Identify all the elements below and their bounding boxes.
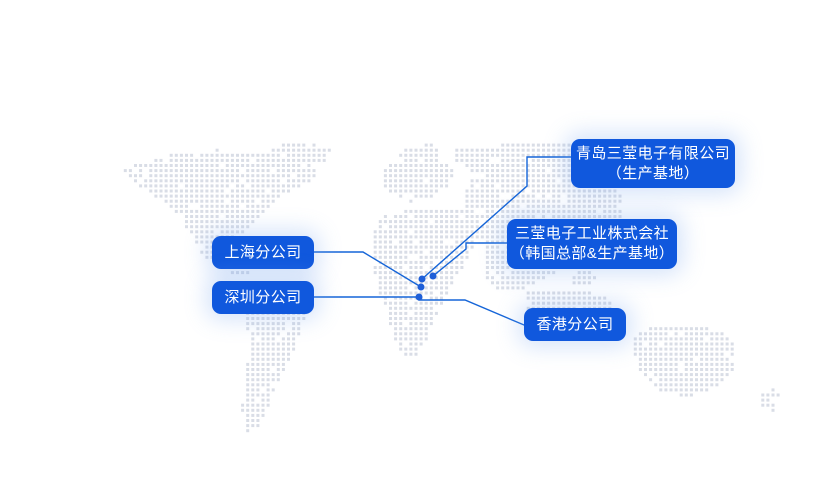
connector-lines <box>0 0 824 480</box>
label-shanghai-line1: 上海分公司 <box>225 243 302 263</box>
korea-marker[interactable] <box>430 273 437 280</box>
shenzhen-hongkong-marker[interactable] <box>416 294 423 301</box>
label-shanghai[interactable]: 上海分公司 <box>212 236 314 269</box>
label-korea-line1: 三莹电子工业株式会社 <box>515 224 669 244</box>
label-hongkong-line1: 香港分公司 <box>537 315 614 335</box>
label-korea-line2: （韩国总部&生产基地） <box>510 244 674 264</box>
label-qingdao-line2: （生产基地） <box>607 164 699 184</box>
qingdao-marker[interactable] <box>419 276 426 283</box>
shanghai-marker[interactable] <box>418 284 425 291</box>
world-map-canvas: 青岛三莹电子有限公司 （生产基地） 三莹电子工业株式会社 （韩国总部&生产基地）… <box>0 0 824 480</box>
label-qingdao[interactable]: 青岛三莹电子有限公司 （生产基地） <box>571 139 735 188</box>
connector-shanghai <box>314 252 421 287</box>
label-hongkong[interactable]: 香港分公司 <box>524 308 626 341</box>
label-shenzhen[interactable]: 深圳分公司 <box>212 281 314 314</box>
label-shenzhen-line1: 深圳分公司 <box>225 288 302 308</box>
label-korea[interactable]: 三莹电子工业株式会社 （韩国总部&生产基地） <box>507 219 677 269</box>
label-qingdao-line1: 青岛三莹电子有限公司 <box>576 144 730 164</box>
connector-hongkong <box>419 300 524 325</box>
